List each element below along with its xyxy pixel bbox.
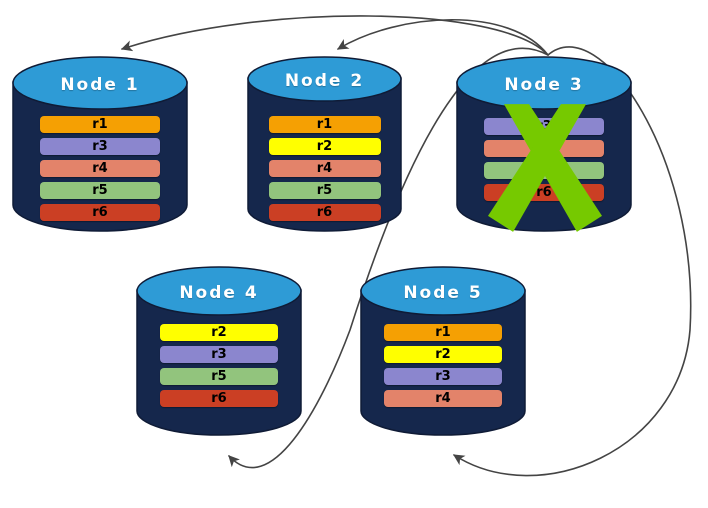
replica-bar-list: r1r3r4r5r6 xyxy=(12,116,188,226)
replica-bar-r3[interactable]: r3 xyxy=(484,118,604,135)
database-node-2[interactable]: Node 2r1r2r4r5r6 xyxy=(247,56,402,232)
cylinder-top xyxy=(137,267,301,315)
database-node-3[interactable]: Node 3r3r4r5r6 xyxy=(456,56,632,232)
cylinder-top xyxy=(248,57,401,101)
replica-bar-r6[interactable]: r6 xyxy=(40,204,160,221)
cylinder-top xyxy=(361,267,525,315)
replica-bar-r6[interactable]: r6 xyxy=(160,390,278,407)
replica-bar-r4[interactable]: r4 xyxy=(269,160,381,177)
replica-bar-r3[interactable]: r3 xyxy=(160,346,278,363)
replica-bar-r6[interactable]: r6 xyxy=(484,184,604,201)
replica-bar-r2[interactable]: r2 xyxy=(384,346,502,363)
replica-bar-r6[interactable]: r6 xyxy=(269,204,381,221)
replica-bar-r3[interactable]: r3 xyxy=(40,138,160,155)
replica-bar-r5[interactable]: r5 xyxy=(269,182,381,199)
database-node-1[interactable]: Node 1r1r3r4r5r6 xyxy=(12,56,188,232)
replica-bar-r4[interactable]: r4 xyxy=(40,160,160,177)
replica-bar-r2[interactable]: r2 xyxy=(160,324,278,341)
cylinder-top xyxy=(13,57,187,109)
replica-bar-r5[interactable]: r5 xyxy=(160,368,278,385)
cylinder-top xyxy=(457,57,631,109)
arrow-node3-to-node2 xyxy=(338,20,548,55)
replica-bar-r4[interactable]: r4 xyxy=(484,140,604,157)
replica-bar-r2[interactable]: r2 xyxy=(269,138,381,155)
replica-bar-list: r1r2r3r4 xyxy=(360,324,526,412)
arrow-node3-to-node1 xyxy=(122,16,548,55)
replica-bar-r3[interactable]: r3 xyxy=(384,368,502,385)
replica-bar-r1[interactable]: r1 xyxy=(384,324,502,341)
database-node-5[interactable]: Node 5r1r2r3r4 xyxy=(360,266,526,436)
replica-bar-r5[interactable]: r5 xyxy=(484,162,604,179)
replica-bar-list: r1r2r4r5r6 xyxy=(247,116,402,226)
replica-bar-r4[interactable]: r4 xyxy=(384,390,502,407)
diagram-canvas: Node 1r1r3r4r5r6Node 2r1r2r4r5r6Node 3r3… xyxy=(0,0,708,508)
replica-bar-r1[interactable]: r1 xyxy=(40,116,160,133)
replica-bar-list: r2r3r5r6 xyxy=(136,324,302,412)
replica-bar-list: r3r4r5r6 xyxy=(456,118,632,206)
replica-bar-r1[interactable]: r1 xyxy=(269,116,381,133)
database-node-4[interactable]: Node 4r2r3r5r6 xyxy=(136,266,302,436)
replica-bar-r5[interactable]: r5 xyxy=(40,182,160,199)
